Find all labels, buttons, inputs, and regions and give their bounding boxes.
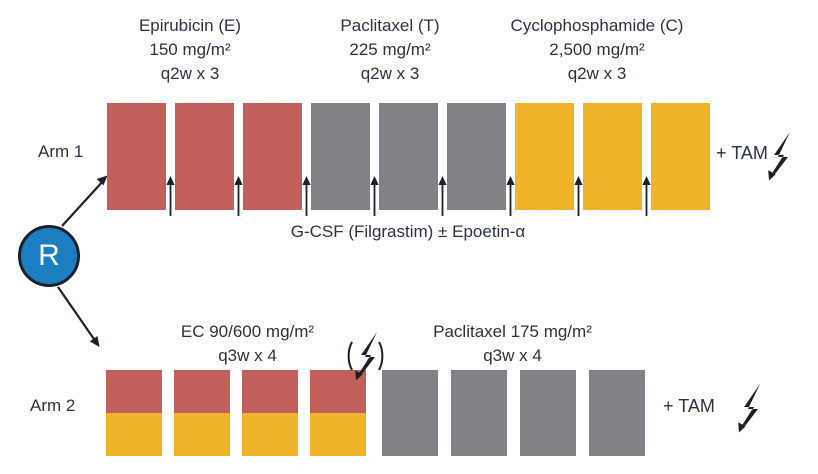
arm2-cycle-bar-ec: [106, 370, 162, 456]
arm1-cycle-bar: [447, 103, 506, 210]
arm1-drug-header-epirubicin: Epirubicin (E) 150 mg/m² q2w x 3: [95, 14, 285, 86]
drug-name: Paclitaxel 175 mg/m²: [400, 320, 625, 344]
drug-dose: 150 mg/m²: [95, 38, 285, 62]
arm1-support-arrow: [574, 176, 582, 216]
arm1-cycle-bar: [311, 103, 370, 210]
drug-dose: 2,500 mg/m²: [487, 38, 707, 62]
arm1-cycle-bar: [651, 103, 710, 210]
randomization-label: R: [38, 241, 60, 271]
drug-schedule: q2w x 3: [295, 62, 485, 86]
drug-dose: 225 mg/m²: [295, 38, 485, 62]
drug-name: EC 90/600 mg/m²: [140, 320, 355, 344]
arm2-cycle-bar-ec: [310, 370, 366, 456]
arm1-cycle-bar: [243, 103, 302, 210]
arm2-cycle-bar-paclitaxel: [520, 370, 576, 456]
arm2-radiotherapy-lightning-bolt-icon: [738, 384, 760, 433]
arm2-endocrine-therapy-label: + TAM: [663, 396, 715, 417]
arm1-support-arrow: [506, 176, 514, 216]
bar-segment-epirubicin: [106, 370, 162, 413]
drug-name: Paclitaxel (T): [295, 14, 485, 38]
arm2-cycle-bar-paclitaxel: [451, 370, 507, 456]
bar-segment-epirubicin: [242, 370, 298, 413]
drug-schedule: q2w x 3: [95, 62, 285, 86]
arm1-endocrine-therapy-label: + TAM: [716, 143, 768, 164]
bar-segment-epirubicin: [310, 370, 366, 413]
arm2-cycle-bar-ec: [174, 370, 230, 456]
drug-schedule: q3w x 4: [140, 344, 355, 368]
drug-schedule: q3w x 4: [400, 344, 625, 368]
arm2-cycle-bar-paclitaxel: [589, 370, 645, 456]
arm1-radiotherapy-lightning-bolt-icon: [768, 132, 790, 181]
randomization-node: R: [18, 225, 80, 287]
randomization-arrow-to-arm1: [62, 176, 108, 227]
arm1-cycle-bar: [583, 103, 642, 210]
arm1-cycle-bar: [175, 103, 234, 210]
drug-schedule: q2w x 3: [487, 62, 707, 86]
arm1-support-arrow: [166, 176, 174, 216]
arm1-support-arrow: [234, 176, 242, 216]
right-paren: [379, 342, 382, 370]
arm1-support-arrow: [370, 176, 378, 216]
drug-name: Cyclophosphamide (C): [487, 14, 707, 38]
arm2-label: Arm 2: [30, 396, 75, 416]
arm1-support-arrow: [642, 176, 650, 216]
arm1-drug-header-cyclophosphamide: Cyclophosphamide (C) 2,500 mg/m² q2w x 3: [487, 14, 707, 86]
arm1-label: Arm 1: [38, 142, 83, 162]
arm1-cycle-bar: [107, 103, 166, 210]
randomization-arrow-to-arm2: [58, 287, 100, 347]
arm1-support-arrow: [438, 176, 446, 216]
arm1-support-arrow: [302, 176, 310, 216]
drug-name: Epirubicin (E): [95, 14, 285, 38]
arm2-drug-header-ec: EC 90/600 mg/m² q3w x 4: [140, 320, 355, 368]
arm2-cycle-bar-ec: [242, 370, 298, 456]
arm2-drug-header-paclitaxel: Paclitaxel 175 mg/m² q3w x 4: [400, 320, 625, 368]
bar-segment-epirubicin: [174, 370, 230, 413]
arm2-cycle-bar-paclitaxel: [382, 370, 438, 456]
arm1-growth-factor-support-label: G-CSF (Filgrastim) ± Epoetin-α: [243, 222, 573, 242]
arm1-cycle-bar: [379, 103, 438, 210]
arm1-drug-header-paclitaxel: Paclitaxel (T) 225 mg/m² q2w x 3: [295, 14, 485, 86]
arm1-cycle-bar: [515, 103, 574, 210]
trial-schema-diagram: Epirubicin (E) 150 mg/m² q2w x 3 Paclita…: [0, 0, 818, 474]
